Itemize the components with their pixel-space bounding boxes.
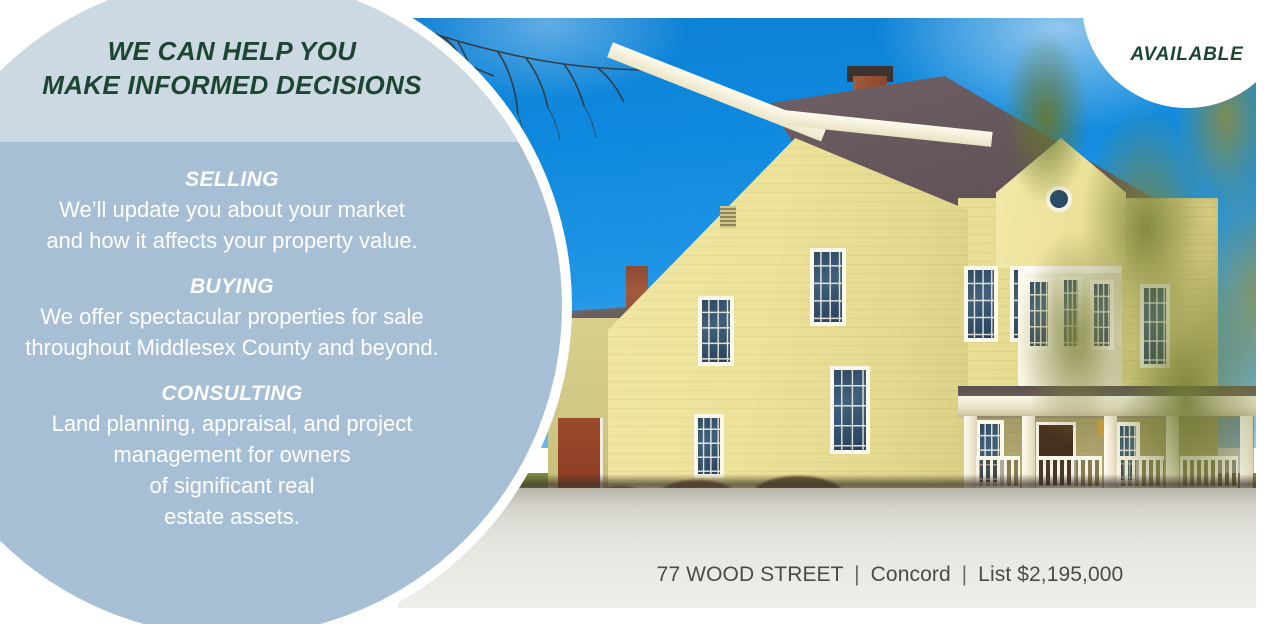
info-panel-content: WE CAN HELP YOU MAKE INFORMED DECISIONS … bbox=[0, 0, 562, 624]
headline-line-1: WE CAN HELP YOU bbox=[0, 34, 562, 68]
service-selling: SELLING We’ll update you about your mark… bbox=[0, 166, 562, 256]
gable-window-lower-left bbox=[694, 414, 724, 478]
listing-town: Concord bbox=[871, 563, 951, 586]
gable-window-left bbox=[698, 296, 734, 366]
gable-vent bbox=[720, 206, 736, 228]
caption-separator-2: | bbox=[957, 563, 973, 586]
real-estate-ad: WE CAN HELP YOU MAKE INFORMED DECISIONS … bbox=[0, 0, 1280, 624]
gable-rake-left bbox=[607, 42, 827, 141]
headline-line-2: MAKE INFORMED DECISIONS bbox=[0, 68, 562, 102]
services-list: SELLING We’ll update you about your mark… bbox=[0, 166, 562, 549]
service-line: We’ll update you about your market bbox=[0, 194, 562, 225]
service-line: of significant real bbox=[0, 470, 562, 501]
availability-badge-label: AVAILABLE bbox=[1082, 0, 1280, 108]
caption-separator: | bbox=[849, 563, 865, 586]
gable-window-lower bbox=[830, 366, 870, 454]
service-line: estate assets. bbox=[0, 501, 562, 532]
service-consulting: CONSULTING Land planning, appraisal, and… bbox=[0, 380, 562, 532]
service-title: SELLING bbox=[0, 166, 562, 194]
service-buying: BUYING We offer spectacular properties f… bbox=[0, 273, 562, 363]
service-title: BUYING bbox=[0, 273, 562, 301]
service-title: CONSULTING bbox=[0, 380, 562, 408]
panel-headline: WE CAN HELP YOU MAKE INFORMED DECISIONS bbox=[0, 34, 562, 102]
listing-price: $2,195,000 bbox=[1017, 563, 1123, 586]
service-line: throughout Middlesex County and beyond. bbox=[0, 332, 562, 363]
service-line: Land planning, appraisal, and project bbox=[0, 408, 562, 439]
listing-price-label: List bbox=[978, 563, 1011, 586]
service-line: management for owners bbox=[0, 439, 562, 470]
service-line: We offer spectacular properties for sale bbox=[0, 301, 562, 332]
gable-window-upper bbox=[810, 248, 846, 326]
listing-caption: 77 WOOD STREET | Concord | List $2,195,0… bbox=[620, 563, 1160, 587]
listing-address: 77 WOOD STREET bbox=[657, 563, 844, 586]
service-line: and how it affects your property value. bbox=[0, 225, 562, 256]
